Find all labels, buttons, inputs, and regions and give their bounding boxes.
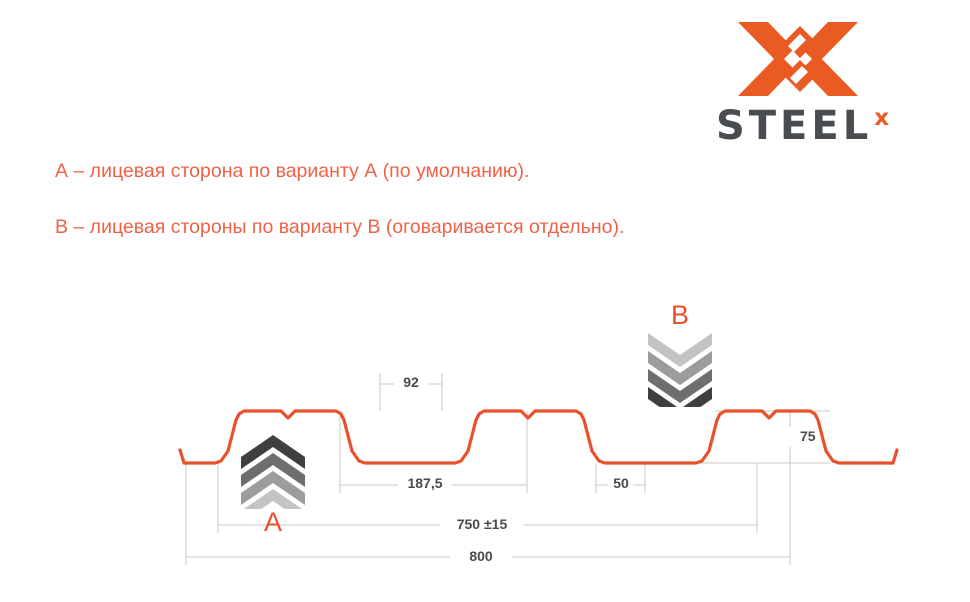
note-variant-a: А – лицевая сторона по варианту А (по ум… xyxy=(55,160,529,183)
logo-superscript-x: x xyxy=(874,105,889,131)
dimension-label-750: 750 ±15 xyxy=(442,516,522,532)
profile-technical-drawing: A B 92 187,5 50 75 750 ±15 800 xyxy=(0,285,970,597)
dimension-label-800: 800 xyxy=(451,548,511,564)
drawing-page: STEEL x А – лицевая сторона по варианту … xyxy=(0,0,970,597)
steelx-x-mark-icon xyxy=(738,18,858,100)
side-a-chevron-up-icon xyxy=(241,435,305,509)
steelx-logo: STEEL x xyxy=(690,18,915,143)
dimension-label-187-5: 187,5 xyxy=(395,475,455,491)
side-b-chevron-down-icon xyxy=(648,333,712,407)
dimension-label-92: 92 xyxy=(381,374,441,390)
dimension-label-75: 75 xyxy=(800,428,840,444)
logo-word: STEEL xyxy=(716,106,872,146)
steelx-wordmark: STEEL x xyxy=(690,106,915,148)
note-variant-b: В – лицевая стороны по варианту В (огова… xyxy=(55,216,624,239)
side-b-label: B xyxy=(650,300,710,331)
dimension-label-50: 50 xyxy=(591,475,651,491)
side-a-label: A xyxy=(243,507,303,538)
